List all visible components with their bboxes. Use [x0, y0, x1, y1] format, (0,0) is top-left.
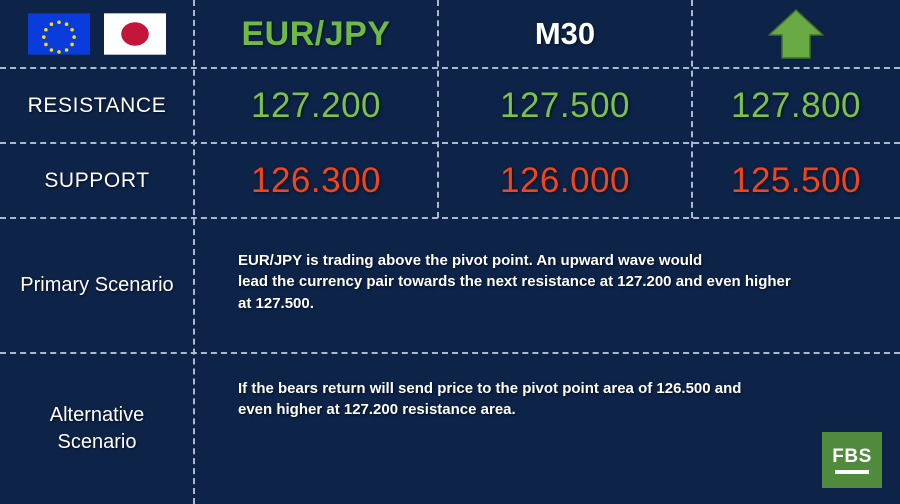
divider-below-header: [0, 67, 900, 69]
alternative-scenario-text: If the bears return will send price to t…: [238, 378, 868, 421]
support-value-cell-2: 126.000: [438, 143, 692, 218]
primary-scenario-label: Primary Scenario: [0, 218, 194, 353]
divider-column-1: [437, 0, 439, 218]
support-value-cell-1: 126.300: [194, 143, 438, 218]
currency-pair-title: EUR/JPY: [242, 15, 391, 54]
flag-pair: [28, 13, 166, 55]
alternative-scenario-line-1: If the bears return will send price to t…: [238, 378, 868, 399]
support-row-label-cell: SUPPORT: [0, 143, 194, 218]
divider-column-2: [691, 0, 693, 218]
alternative-scenario-line-2: even higher at 127.200 resistance area.: [238, 399, 868, 420]
resistance-value-3: 127.800: [731, 86, 861, 126]
support-value-1: 126.300: [251, 161, 381, 201]
resistance-row-label-cell: RESISTANCE: [0, 68, 194, 143]
resistance-value-2: 127.500: [500, 86, 630, 126]
currency-flags-cell: [0, 0, 194, 68]
divider-below-primary: [0, 352, 900, 354]
divider-below-resistance: [0, 142, 900, 144]
primary-scenario-line-3: at 127.500.: [238, 293, 868, 314]
resistance-row: RESISTANCE 127.200 127.500 127.800: [0, 68, 900, 143]
resistance-value-cell-3: 127.800: [692, 68, 900, 143]
currency-pair-cell: EUR/JPY: [194, 0, 438, 68]
primary-scenario-line-2: lead the currency pair towards the next …: [238, 271, 868, 292]
timeframe-label: M30: [535, 16, 595, 52]
resistance-value-cell-2: 127.500: [438, 68, 692, 143]
divider-below-support: [0, 217, 900, 219]
fbs-logo: FBS: [822, 432, 882, 488]
forex-signal-card: EUR/JPY M30 RESISTANCE 127.200 127.500 1…: [0, 0, 900, 504]
resistance-value-1: 127.200: [251, 86, 381, 126]
support-row: SUPPORT 126.300 126.000 125.500: [0, 143, 900, 218]
primary-scenario-row: Primary Scenario EUR/JPY is trading abov…: [0, 218, 900, 353]
alternative-scenario-row: Alternative Scenario If the bears return…: [0, 353, 900, 504]
eu-flag-icon: [28, 13, 90, 55]
trend-cell: [692, 0, 900, 68]
fbs-logo-underline: [835, 470, 869, 474]
arrow-up-icon: [767, 8, 825, 60]
support-value-3: 125.500: [731, 161, 861, 201]
alternative-scenario-label: Alternative Scenario: [0, 353, 194, 504]
divider-column-label: [193, 0, 195, 504]
primary-scenario-text: EUR/JPY is trading above the pivot point…: [238, 250, 868, 314]
support-value-2: 126.000: [500, 161, 630, 201]
header-row: EUR/JPY M30: [0, 0, 900, 68]
primary-scenario-line-1: EUR/JPY is trading above the pivot point…: [238, 250, 868, 271]
support-value-cell-3: 125.500: [692, 143, 900, 218]
timeframe-cell: M30: [438, 0, 692, 68]
resistance-label: RESISTANCE: [28, 94, 167, 118]
resistance-value-cell-1: 127.200: [194, 68, 438, 143]
fbs-logo-text: FBS: [832, 447, 872, 466]
japan-flag-icon: [104, 13, 166, 55]
support-label: SUPPORT: [44, 169, 149, 193]
